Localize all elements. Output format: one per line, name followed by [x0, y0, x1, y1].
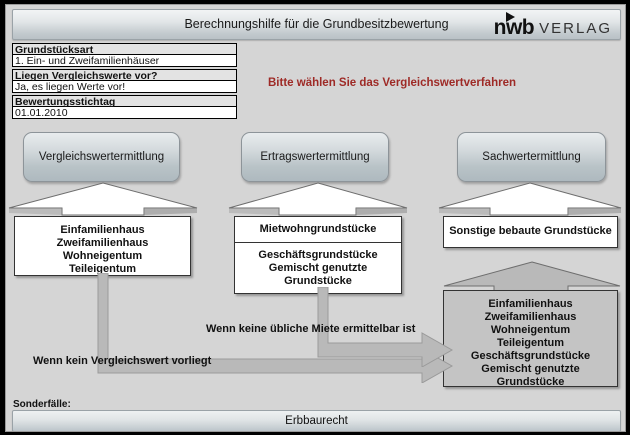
flow-label-no-rent: Wenn keine übliche Miete ermittelbar ist [206, 323, 415, 335]
field-value[interactable]: Ja, es liegen Werte vor! [12, 81, 237, 93]
panel-segment: Einfamilienhaus Zweifamilienhaus Wohneig… [15, 217, 190, 281]
field-value[interactable]: 1. Ein- und Zweifamilienhäuser [12, 55, 237, 67]
selection-prompt: Bitte wählen Sie das Vergleichswertverfa… [268, 77, 516, 89]
flow-label-no-comparison: Wenn kein Vergleichswert vorliegt [33, 355, 211, 367]
panel-segment: Einfamilienhaus Zweifamilienhaus Wohneig… [444, 291, 617, 394]
field-bewertungsstichtag: Bewertungsstichtag 01.01.2010 [12, 95, 237, 119]
application-window: Berechnungshilfe für die Grundbesitzbewe… [5, 4, 626, 432]
panel-vergleich: Einfamilienhaus Zweifamilienhaus Wohneig… [14, 216, 191, 276]
erbbaurecht-label: Erbbaurecht [285, 415, 348, 427]
field-label: Grundstücksart [12, 43, 237, 55]
panel-sach-types: Einfamilienhaus Zweifamilienhaus Wohneig… [443, 290, 618, 387]
method-ertragswertermittlung[interactable]: Ertragswertermittlung [241, 132, 389, 182]
method-label: Sachwertermittlung [482, 151, 580, 163]
up-arrow-sach [438, 182, 622, 216]
field-label: Liegen Vergleichswerte vor? [12, 69, 237, 81]
up-arrow-vergleich [8, 182, 198, 216]
up-arrow-sach-inner [443, 261, 621, 293]
panel-segment: Sonstige bebaute Grundstücke [444, 217, 617, 243]
field-value[interactable]: 01.01.2010 [12, 107, 237, 119]
panel-sonstige-bebaute: Sonstige bebaute Grundstücke [443, 216, 618, 248]
field-grundstuecksart: Grundstücksart 1. Ein- und Zweifamilienh… [12, 43, 237, 67]
method-label: Vergleichswertermittlung [39, 151, 164, 163]
erbbaurecht-button[interactable]: Erbbaurecht [12, 410, 621, 432]
field-vergleichswerte: Liegen Vergleichswerte vor? Ja, es liege… [12, 69, 237, 93]
method-vergleichswertermittlung[interactable]: Vergleichswertermittlung [23, 132, 180, 182]
method-label: Ertragswertermittlung [260, 151, 369, 163]
up-arrow-ertrag [228, 182, 408, 216]
panel-segment: Mietwohngrundstücke [235, 217, 401, 242]
logo-suffix: VERLAG [539, 13, 612, 36]
method-sachwertermittlung[interactable]: Sachwertermittlung [457, 132, 606, 182]
field-label: Bewertungsstichtag [12, 95, 237, 107]
nwb-verlag-logo: nwb VERLAG [494, 11, 612, 38]
triangle-right-icon [506, 12, 515, 22]
title-bar: Berechnungshilfe für die Grundbesitzbewe… [12, 9, 621, 40]
special-cases-label: Sonderfälle: [13, 399, 71, 410]
